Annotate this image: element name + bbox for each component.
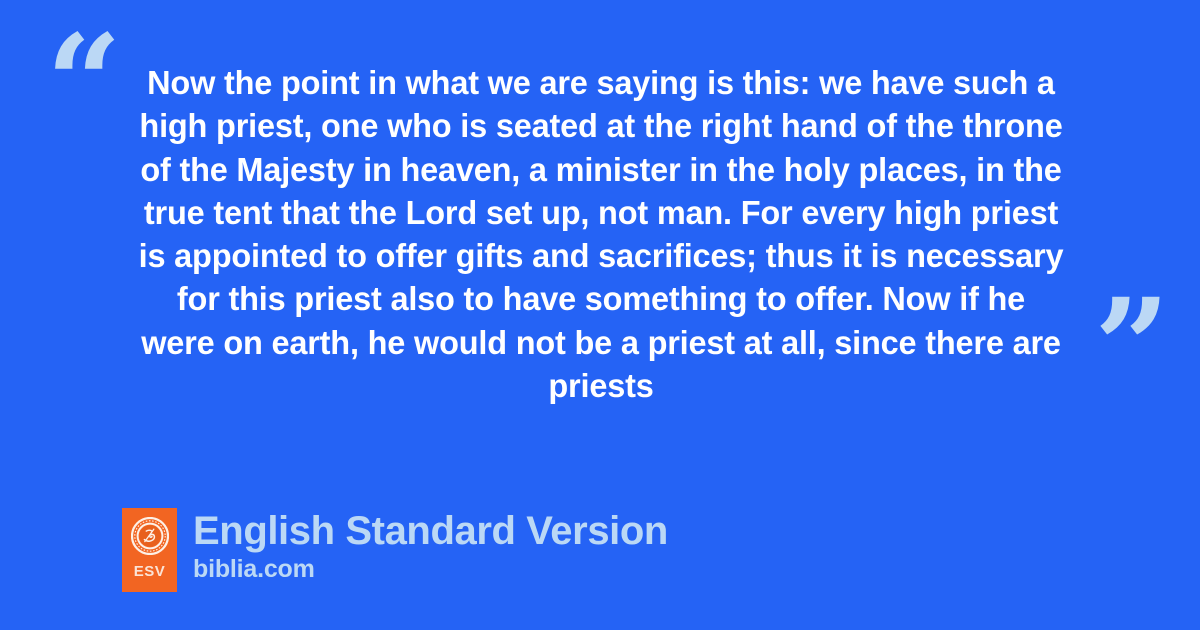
esv-logo-label: ESV [134, 564, 166, 579]
quote-line: true tent that the Lord set up, not man.… [123, 192, 1079, 235]
quote-line: is appointed to offer gifts and sacrific… [123, 235, 1079, 278]
esv-seal-emblem-icon [131, 517, 169, 555]
quote-card: “ Now the point in what we are saying is… [0, 0, 1200, 630]
attribution-footer: ESV English Standard Version biblia.com [122, 508, 668, 592]
translation-title: English Standard Version [193, 508, 668, 554]
quote-line: Now the point in what we are saying is t… [123, 62, 1079, 105]
quote-line: of the Majesty in heaven, a minister in … [123, 149, 1079, 192]
quote-line: were on earth, he would not be a priest … [123, 322, 1079, 365]
close-quote-icon: ” [1094, 282, 1168, 414]
source-url: biblia.com [193, 555, 668, 583]
esv-logo-tile: ESV [122, 508, 177, 592]
attribution-text: English Standard Version biblia.com [193, 508, 668, 583]
quote-text-block: Now the point in what we are saying is t… [108, 62, 1094, 408]
quote-line: priests [123, 365, 1079, 408]
quote-line: high priest, one who is seated at the ri… [123, 105, 1079, 148]
quote-line: for this priest also to have something t… [123, 278, 1079, 321]
